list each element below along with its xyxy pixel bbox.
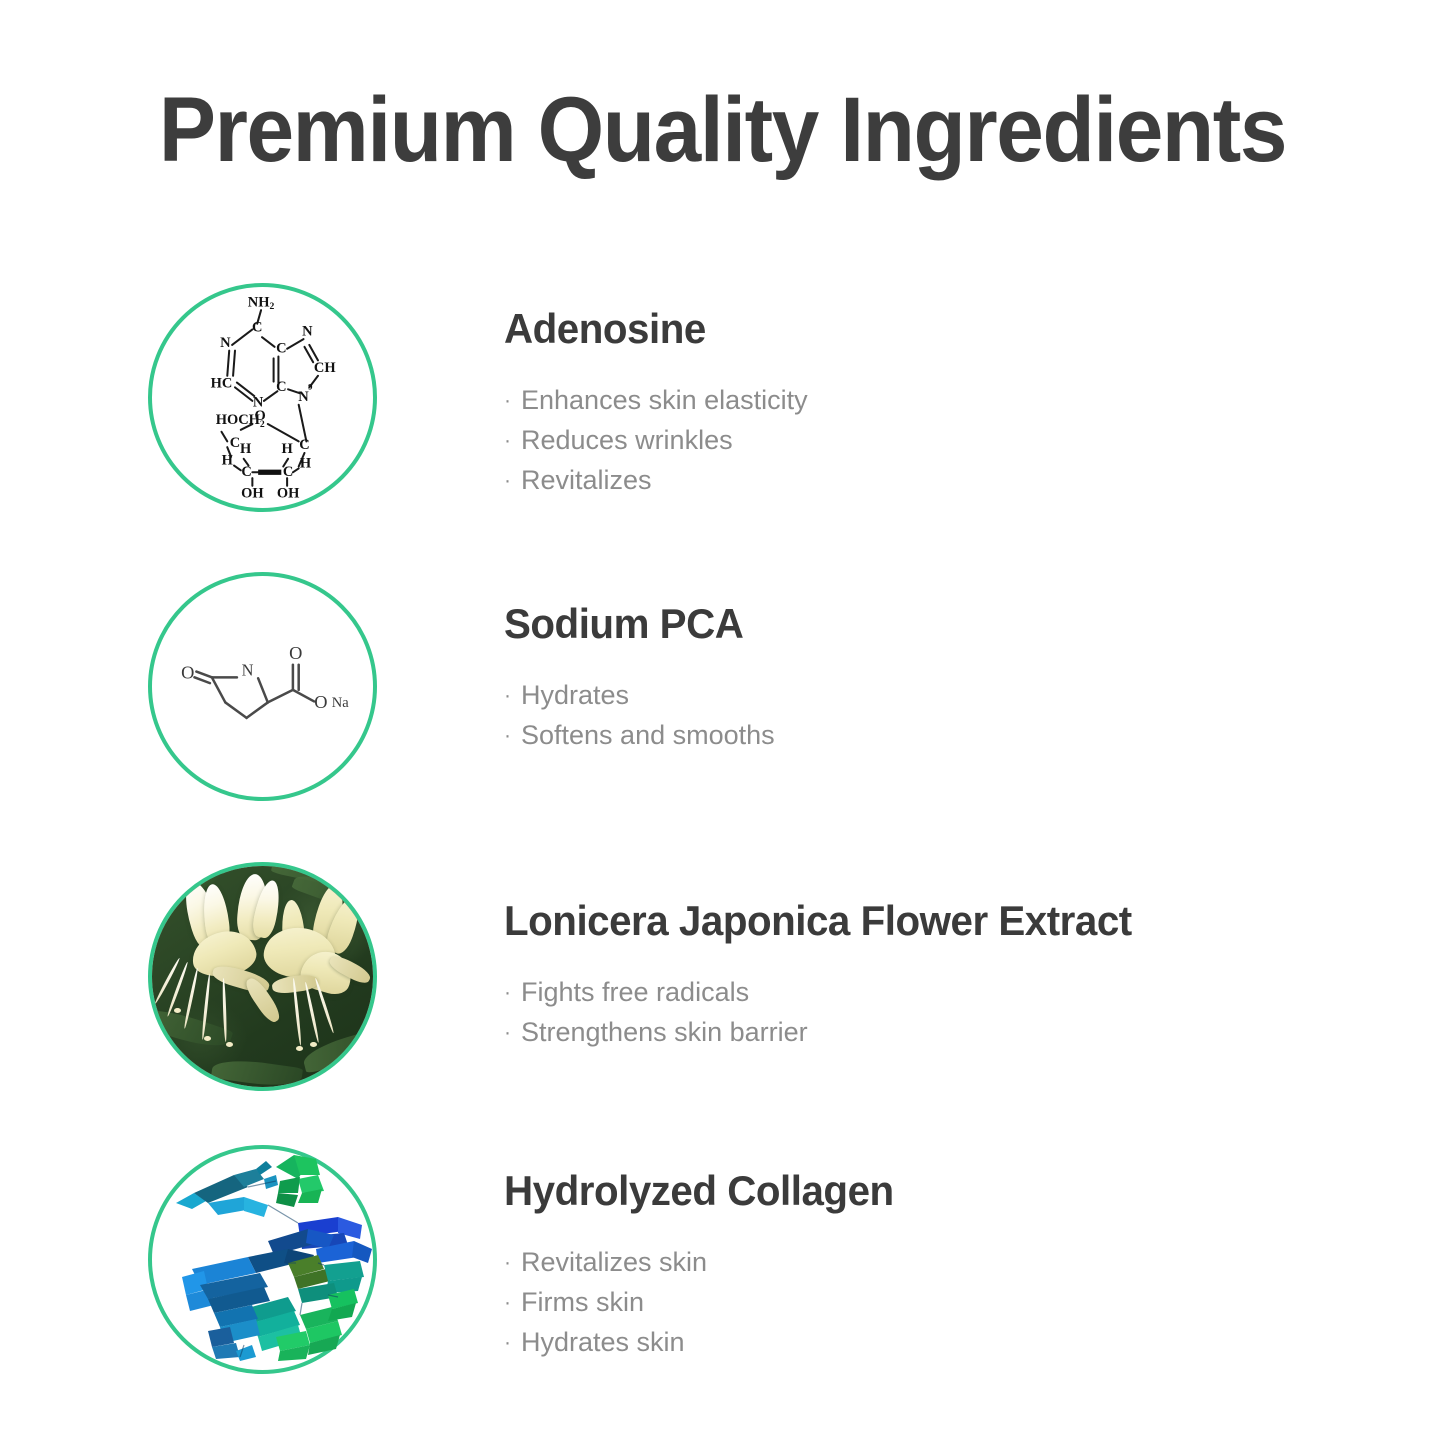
benefit-text: Reduces wrinkles	[521, 421, 733, 460]
circle-frame: O N O O Na	[148, 572, 377, 801]
benefit-list: · Fights free radicals · Strengthens ski…	[504, 973, 1384, 1052]
lonicera-text-block: Lonicera Japonica Flower Extract · Fight…	[504, 897, 1384, 1053]
label-h3prime: H	[240, 441, 252, 457]
page-title: Premium Quality Ingredients	[51, 78, 1395, 183]
label-n9-superscript: 9	[308, 381, 313, 391]
label-sodium: Na	[332, 695, 349, 711]
benefit-item: · Reduces wrinkles	[504, 421, 1384, 460]
bullet-icon: ·	[504, 716, 521, 755]
label-oh-left: OH	[241, 485, 264, 501]
benefit-text: Revitalizes	[521, 461, 652, 500]
bullet-icon: ·	[504, 421, 521, 460]
label-carbonyl-oxygen: O	[289, 643, 302, 663]
benefit-list: · Hydrates · Softens and smooths	[504, 676, 1384, 755]
bullet-icon: ·	[504, 973, 521, 1012]
label-c2: HC	[211, 375, 233, 391]
bullet-icon: ·	[504, 381, 521, 420]
circle-frame	[148, 862, 377, 1091]
label-h2prime: H	[281, 441, 293, 457]
ingredient-title: Hydrolyzed Collagen	[504, 1167, 1349, 1215]
honeysuckle-flower-photo	[152, 866, 373, 1087]
bullet-icon: ·	[504, 1013, 521, 1052]
benefit-item: · Revitalizes	[504, 461, 1384, 500]
benefit-text: Hydrates skin	[521, 1323, 685, 1362]
adenosine-text-block: Adenosine · Enhances skin elasticity · R…	[504, 305, 1384, 501]
label-c4prime: C	[230, 435, 240, 451]
label-c1prime: C	[299, 437, 309, 453]
label-c5: C	[276, 341, 286, 357]
sodium-pca-molecule-diagram: O N O O Na	[152, 576, 373, 797]
bullet-icon: ·	[504, 1243, 521, 1282]
adenosine-molecule-diagram: NH2 C N HC N C C N CH N 9 HOCH2	[152, 287, 373, 508]
benefit-item: · Firms skin	[504, 1283, 1384, 1322]
label-oh-right: OH	[277, 485, 300, 501]
benefit-text: Revitalizes skin	[521, 1243, 707, 1282]
label-carboxylate-oxygen: O	[314, 692, 327, 712]
label-c2prime: C	[283, 464, 293, 480]
benefit-list: · Revitalizes skin · Firms skin · Hydrat…	[504, 1243, 1384, 1362]
label-h4prime: H	[222, 453, 234, 469]
benefit-item: · Softens and smooths	[504, 716, 1384, 755]
label-h1prime: H	[300, 455, 312, 471]
label-c4: C	[276, 379, 286, 395]
bullet-icon: ·	[504, 1323, 521, 1362]
label-ring-nitrogen: N	[242, 660, 254, 679]
ingredients-infographic: Premium Quality Ingredients	[0, 0, 1445, 1445]
benefit-list: · Enhances skin elasticity · Reduces wri…	[504, 381, 1384, 500]
label-c3prime: C	[241, 464, 251, 480]
benefit-item: · Strengthens skin barrier	[504, 1013, 1384, 1052]
sodium-pca-icon-circle: O N O O Na	[148, 572, 377, 801]
label-amine: NH2	[248, 294, 275, 312]
label-n1: N	[220, 335, 231, 351]
benefit-text: Hydrates	[521, 676, 629, 715]
circle-frame: NH2 C N HC N C C N CH N 9 HOCH2	[148, 283, 377, 512]
benefit-text: Softens and smooths	[521, 716, 775, 755]
sodium-pca-text-block: Sodium PCA · Hydrates · Softens and smoo…	[504, 600, 1384, 756]
ingredient-title: Lonicera Japonica Flower Extract	[504, 897, 1349, 945]
bullet-icon: ·	[504, 676, 521, 715]
label-ketone-oxygen: O	[181, 662, 194, 682]
benefit-text: Strengthens skin barrier	[521, 1013, 808, 1052]
benefit-text: Enhances skin elasticity	[521, 381, 808, 420]
label-c6: C	[252, 319, 262, 335]
label-c8: CH	[314, 360, 336, 376]
collagen-icon-circle	[148, 1145, 377, 1374]
benefit-item: · Hydrates skin	[504, 1323, 1384, 1362]
benefit-text: Firms skin	[521, 1283, 644, 1322]
ingredient-title: Adenosine	[504, 305, 1349, 353]
bullet-icon: ·	[504, 461, 521, 500]
benefit-item: · Hydrates	[504, 676, 1384, 715]
collagen-protein-ribbon-diagram	[148, 1145, 377, 1374]
benefit-item: · Fights free radicals	[504, 973, 1384, 1012]
adenosine-icon-circle: NH2 C N HC N C C N CH N 9 HOCH2	[148, 283, 377, 512]
benefit-item: · Revitalizes skin	[504, 1243, 1384, 1282]
collagen-text-block: Hydrolyzed Collagen · Revitalizes skin ·…	[504, 1167, 1384, 1363]
label-n7: N	[302, 323, 313, 339]
benefit-item: · Enhances skin elasticity	[504, 381, 1384, 420]
benefit-text: Fights free radicals	[521, 973, 749, 1012]
ingredient-title: Sodium PCA	[504, 600, 1349, 648]
lonicera-icon-circle	[148, 862, 377, 1091]
label-ring-oxygen: O	[254, 408, 265, 424]
bullet-icon: ·	[504, 1283, 521, 1322]
